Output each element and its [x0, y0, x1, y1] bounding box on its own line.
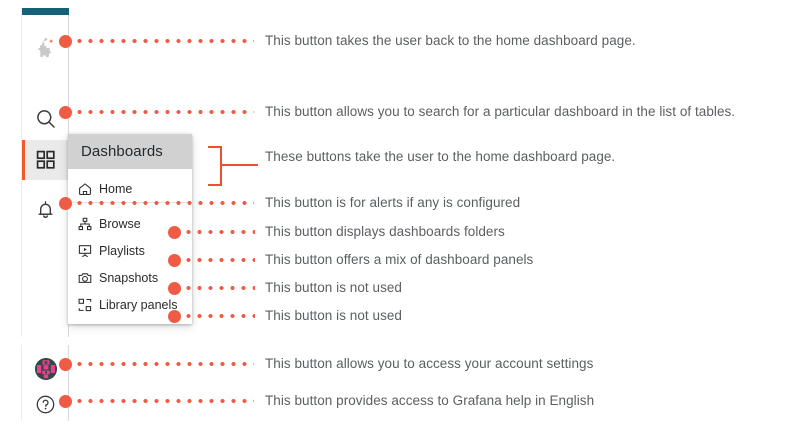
annotation-library-panels-note: This button is not used	[265, 308, 402, 323]
presentation-play-icon	[78, 244, 92, 258]
search-icon	[35, 108, 57, 130]
sitemap-icon	[78, 217, 92, 231]
callout-dot	[59, 197, 72, 210]
sidebar-item-logo[interactable]	[22, 28, 69, 68]
callout-dot	[168, 282, 181, 295]
callout-dot	[168, 310, 181, 323]
annotation-help-note: This button provides access to Grafana h…	[265, 393, 594, 408]
flyout-title: Dashboards	[81, 143, 163, 160]
annotation-search-note: This button allows you to search for a p…	[265, 104, 735, 119]
sidebar	[21, 8, 69, 337]
dashboards-group-bracket	[208, 146, 222, 186]
menu-item-label: Playlists	[99, 244, 145, 258]
sidebar-item-dashboards[interactable]	[22, 140, 69, 180]
bell-icon	[35, 199, 56, 220]
annotation-playlists-note: This button offers a mix of dashboard pa…	[265, 252, 533, 267]
callout-dot	[59, 35, 72, 48]
callout-leader	[74, 362, 254, 366]
library-panels-icon	[78, 298, 92, 312]
menu-item-label: Home	[99, 182, 132, 196]
callout-dot	[59, 395, 72, 408]
annotation-alerting-note: This button is for alerts if any is conf…	[265, 195, 520, 210]
menu-item-home[interactable]: Home	[68, 175, 192, 202]
callout-leader	[183, 286, 255, 290]
callout-dot	[168, 254, 181, 267]
question-mark-icon	[35, 394, 56, 415]
callout-dot	[59, 358, 72, 371]
sidebar-top-accent-bar	[22, 8, 69, 15]
callout-leader	[183, 230, 255, 234]
avatar-icon	[35, 358, 57, 380]
annotation-snapshots-note: This button is not used	[265, 280, 402, 295]
menu-item-label: Browse	[99, 217, 141, 231]
callout-leader	[74, 399, 254, 403]
home-icon	[78, 182, 92, 196]
annotation-dashboards-note: These buttons take the user to the home …	[265, 149, 615, 164]
annotation-browse-note: This button displays dashboards folders	[265, 224, 505, 239]
callout-leader	[74, 39, 254, 43]
callout-leader	[74, 201, 254, 205]
annotation-profile-note: This button allows you to access your ac…	[265, 356, 593, 371]
menu-item-label: Library panels	[99, 298, 178, 312]
apps-grid-icon	[36, 150, 56, 170]
camera-icon	[78, 271, 92, 285]
callout-dot	[168, 226, 181, 239]
grafana-logo-icon	[33, 35, 59, 61]
callout-leader	[183, 258, 255, 262]
annotated-screenshot: Dashboards Home	[0, 0, 800, 429]
callout-dot	[59, 106, 72, 119]
sidebar-item-search[interactable]	[22, 99, 69, 139]
sidebar-bottom	[21, 345, 69, 421]
menu-item-label: Snapshots	[99, 271, 158, 285]
annotation-logo-note: This button takes the user back to the h…	[265, 33, 636, 48]
callout-leader	[74, 110, 254, 114]
callout-leader	[183, 314, 255, 318]
dashboards-group-bracket-stem	[221, 164, 258, 166]
flyout-header[interactable]: Dashboards	[68, 134, 192, 169]
